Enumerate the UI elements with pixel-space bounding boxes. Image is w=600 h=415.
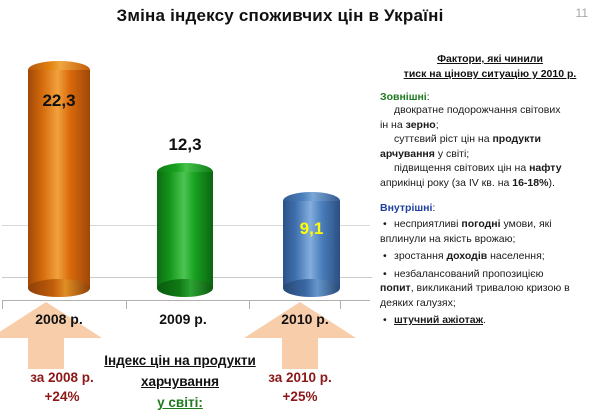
internal-item-1: несприятливі погодні умови, які: [380, 217, 600, 232]
internal-item-3-cont2: деяких галузях;: [380, 296, 600, 311]
internal-item-3-cont: попит, викликаний тривалою кризою в: [380, 281, 600, 296]
slide-number: 11: [576, 6, 588, 20]
food-index-line1: Індекс цін на продукти: [85, 350, 275, 371]
chart-category-axis: [2, 300, 370, 301]
internal-item-4: штучний ажіотаж.: [380, 313, 600, 328]
internal-factors-title: Внутрішні:: [380, 202, 600, 214]
bar-2010[interactable]: 9,1: [283, 192, 340, 288]
external-item-2: суттєвий ріст цін на продукти: [380, 132, 600, 147]
panel-header-line2: тиск на цінову ситуацію у 2010 р.: [404, 68, 577, 80]
slide-root: Зміна індексу споживчих цін в Україні 11…: [0, 0, 600, 415]
bar-value-label-2009: 12,3: [157, 135, 213, 155]
category-label-2009: 2009 р.: [132, 311, 234, 327]
external-factors-body: двократне подорожчання світових ін на зе…: [380, 103, 600, 190]
external-item-1: двократне подорожчання світових: [380, 103, 600, 118]
page-title: Зміна індексу споживчих цін в Україні: [0, 6, 560, 26]
bar-value-label-2008: 22,3: [28, 91, 90, 111]
food-price-index-caption: Індекс цін на продукти харчування у світ…: [85, 350, 275, 413]
bar-2008[interactable]: 22,3: [28, 61, 90, 288]
category-label-2010: 2010 р.: [254, 311, 356, 327]
arrow-shaft: [28, 337, 64, 369]
internal-item-3: незбалансований пропозицією: [380, 267, 600, 282]
bar-value-label-2010: 9,1: [283, 219, 340, 239]
bar-body: [283, 201, 340, 288]
bar-2009[interactable]: 12,3: [157, 163, 213, 288]
category-label-2008: 2008 р.: [8, 311, 110, 327]
factors-panel: Фактори, які чинили тиск на цінову ситуа…: [380, 52, 600, 352]
food-index-line2: харчування: [85, 371, 275, 392]
external-item-2-cont: арчування у світі;: [380, 147, 600, 162]
panel-header: Фактори, які чинили тиск на цінову ситуа…: [380, 52, 600, 82]
external-item-1-cont: ін на зерно;: [380, 118, 600, 133]
bar-bottom-cap: [157, 279, 213, 297]
food-index-line3: у світі:: [85, 392, 275, 413]
bar-body: [157, 172, 213, 288]
bar-bottom-cap: [283, 279, 340, 297]
bar-chart: 22,3 12,3 9,1: [0, 48, 380, 306]
bar-bottom-cap: [28, 279, 90, 297]
external-item-3: підвищення світових цін на нафту: [380, 161, 600, 176]
internal-item-1-cont: вплинули на якість врожаю;: [380, 232, 600, 247]
arrow-shaft: [282, 337, 318, 369]
internal-factors-body: несприятливі погодні умови, які вплинули…: [380, 217, 600, 328]
external-item-3-cont: априкінці року (за IV кв. на 16-18%).: [380, 176, 600, 191]
internal-item-2: зростання доходів населення;: [380, 249, 600, 264]
panel-header-line1: Фактори, які чинили: [437, 53, 543, 65]
axis-tick: [126, 300, 127, 309]
external-factors-title: Зовнішні:: [380, 91, 600, 103]
